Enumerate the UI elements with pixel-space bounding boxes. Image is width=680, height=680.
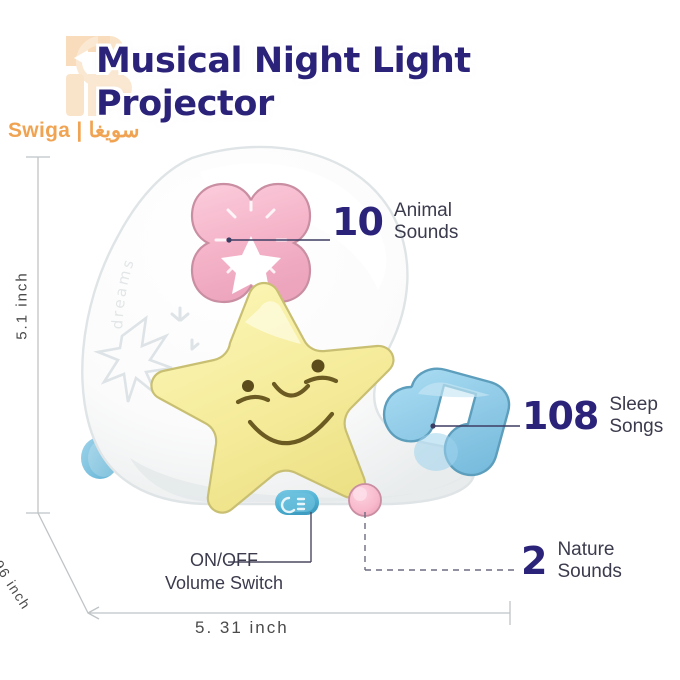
dim-line-depth [38,513,88,613]
callout-volume-switch: ON/OFF Volume Switch [165,549,283,595]
callout-animal-line1: Animal [394,200,458,222]
dimension-label-height: 5.1 inch [14,262,31,350]
dimension-label-width: 5. 31 inch [195,618,289,638]
callout-nature-label: Nature Sounds [557,539,621,584]
callout-sleep-line1: Sleep [609,394,663,416]
callout-switch-line2: Volume Switch [165,572,283,595]
callout-sleep-line2: Songs [609,416,663,438]
infographic-canvas: Swiga | سويغا Musical Night Light Projec… [0,0,680,680]
callout-animal-label: Animal Sounds [394,200,458,245]
callout-animal-line2: Sounds [394,222,458,244]
callout-sleep-songs: 108 Sleep Songs [522,394,663,439]
callout-nature-line2: Sounds [557,561,621,583]
callout-sleep-number: 108 [522,397,598,435]
callout-nature-number: 2 [521,542,546,580]
callout-animal-number: 10 [332,203,383,241]
callout-nature-sounds: 2 Nature Sounds [521,539,622,584]
callout-sleep-label: Sleep Songs [609,394,663,439]
callout-switch-line1: ON/OFF [165,549,283,572]
callout-nature-line1: Nature [557,539,621,561]
callout-animal-sounds: 10 Animal Sounds [332,200,458,245]
